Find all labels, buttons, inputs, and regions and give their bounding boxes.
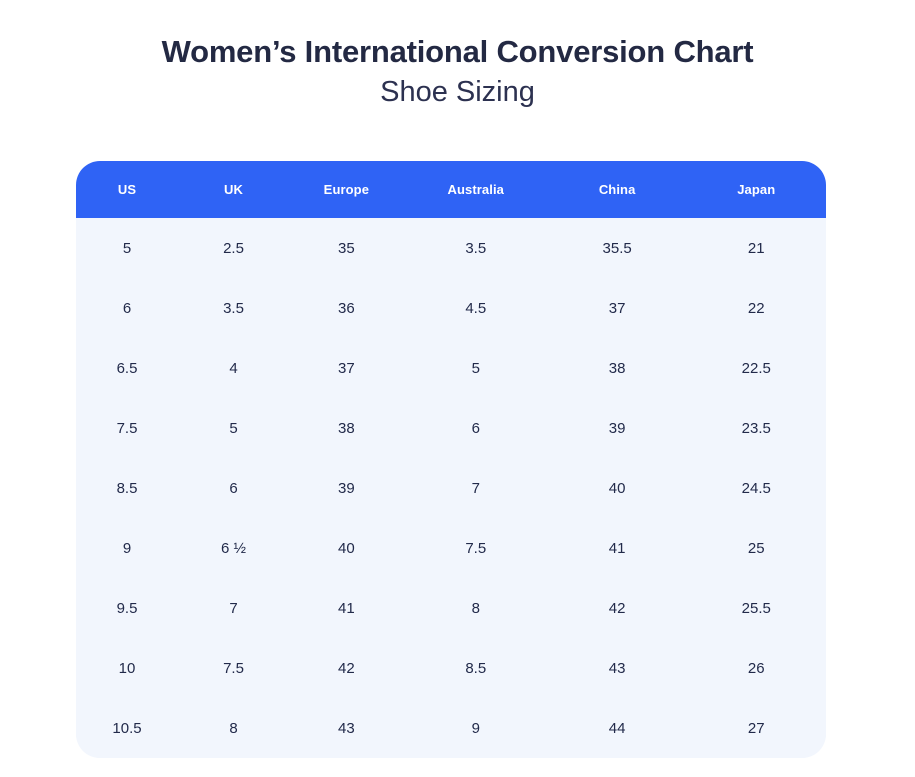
cell-japan: 22.5 [687, 338, 827, 398]
cell-australia: 4.5 [404, 278, 548, 338]
heading-block: Women’s International Conversion Chart S… [0, 0, 915, 109]
table-row: 10.584394427 [76, 698, 826, 758]
column-header-japan: Japan [687, 161, 827, 218]
size-conversion-table: USUKEuropeAustraliaChinaJapan 52.5353.53… [76, 161, 826, 758]
cell-europe: 43 [289, 698, 404, 758]
cell-japan: 25.5 [687, 578, 827, 638]
cell-japan: 26 [687, 638, 827, 698]
cell-europe: 36 [289, 278, 404, 338]
page-subtitle: Shoe Sizing [0, 75, 915, 110]
page-title: Women’s International Conversion Chart [0, 34, 915, 71]
table-row: 8.563974024.5 [76, 458, 826, 518]
cell-uk: 5 [178, 398, 289, 458]
cell-uk: 3.5 [178, 278, 289, 338]
cell-china: 43 [548, 638, 687, 698]
cell-us: 6.5 [76, 338, 178, 398]
column-header-australia: Australia [404, 161, 548, 218]
cell-japan: 25 [687, 518, 827, 578]
cell-china: 44 [548, 698, 687, 758]
cell-australia: 9 [404, 698, 548, 758]
cell-china: 40 [548, 458, 687, 518]
cell-china: 35.5 [548, 218, 687, 278]
column-header-uk: UK [178, 161, 289, 218]
cell-china: 42 [548, 578, 687, 638]
cell-australia: 8.5 [404, 638, 548, 698]
table-header-row: USUKEuropeAustraliaChinaJapan [76, 161, 826, 218]
cell-us: 5 [76, 218, 178, 278]
cell-europe: 41 [289, 578, 404, 638]
cell-us: 10 [76, 638, 178, 698]
cell-us: 7.5 [76, 398, 178, 458]
cell-uk: 8 [178, 698, 289, 758]
cell-us: 9 [76, 518, 178, 578]
cell-uk: 4 [178, 338, 289, 398]
table-row: 96 ½407.54125 [76, 518, 826, 578]
table-row: 6.543753822.5 [76, 338, 826, 398]
cell-australia: 7 [404, 458, 548, 518]
cell-china: 39 [548, 398, 687, 458]
cell-japan: 21 [687, 218, 827, 278]
cell-europe: 42 [289, 638, 404, 698]
cell-japan: 22 [687, 278, 827, 338]
cell-australia: 3.5 [404, 218, 548, 278]
cell-europe: 37 [289, 338, 404, 398]
cell-uk: 7 [178, 578, 289, 638]
cell-uk: 7.5 [178, 638, 289, 698]
conversion-table-card: USUKEuropeAustraliaChinaJapan 52.5353.53… [76, 161, 826, 758]
cell-europe: 38 [289, 398, 404, 458]
table-row: 63.5364.53722 [76, 278, 826, 338]
cell-china: 38 [548, 338, 687, 398]
cell-japan: 27 [687, 698, 827, 758]
table-row: 52.5353.535.521 [76, 218, 826, 278]
cell-europe: 39 [289, 458, 404, 518]
table-header: USUKEuropeAustraliaChinaJapan [76, 161, 826, 218]
cell-china: 41 [548, 518, 687, 578]
column-header-china: China [548, 161, 687, 218]
column-header-us: US [76, 161, 178, 218]
cell-us: 6 [76, 278, 178, 338]
cell-uk: 6 ½ [178, 518, 289, 578]
cell-australia: 5 [404, 338, 548, 398]
cell-uk: 2.5 [178, 218, 289, 278]
cell-australia: 7.5 [404, 518, 548, 578]
table-row: 107.5428.54326 [76, 638, 826, 698]
cell-china: 37 [548, 278, 687, 338]
conversion-chart-page: Women’s International Conversion Chart S… [0, 0, 915, 777]
table-row: 9.574184225.5 [76, 578, 826, 638]
cell-us: 8.5 [76, 458, 178, 518]
cell-australia: 6 [404, 398, 548, 458]
cell-japan: 24.5 [687, 458, 827, 518]
cell-us: 9.5 [76, 578, 178, 638]
cell-australia: 8 [404, 578, 548, 638]
cell-europe: 35 [289, 218, 404, 278]
cell-us: 10.5 [76, 698, 178, 758]
column-header-europe: Europe [289, 161, 404, 218]
cell-europe: 40 [289, 518, 404, 578]
table-row: 7.553863923.5 [76, 398, 826, 458]
cell-uk: 6 [178, 458, 289, 518]
table-body: 52.5353.535.52163.5364.537226.543753822.… [76, 218, 826, 758]
cell-japan: 23.5 [687, 398, 827, 458]
